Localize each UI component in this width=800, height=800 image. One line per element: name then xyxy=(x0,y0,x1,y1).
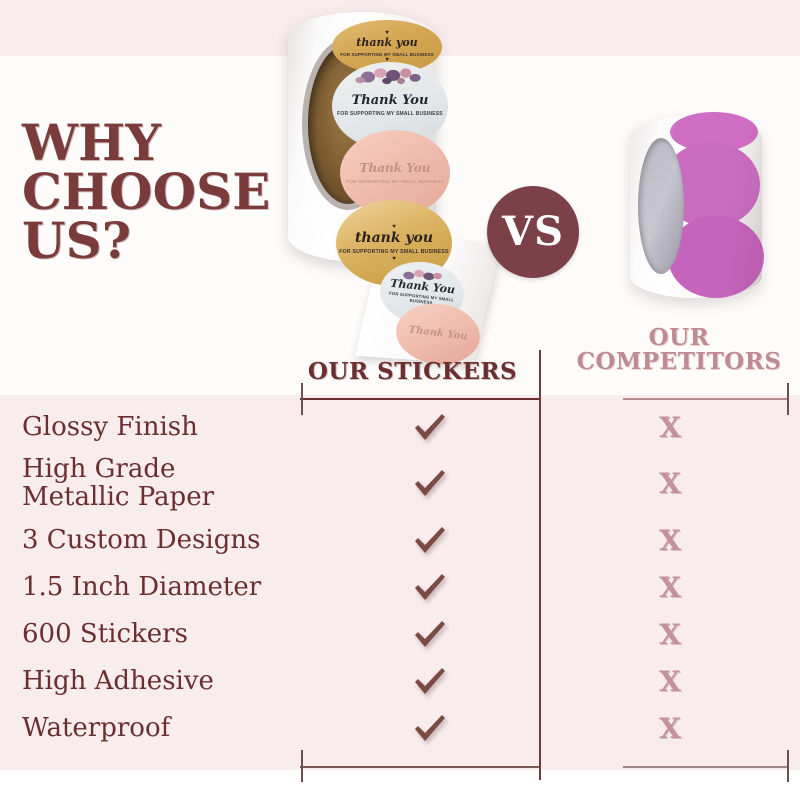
column-divider xyxy=(539,350,541,780)
table-cell: X xyxy=(635,404,705,451)
list-item: High Grade Metallic Paper xyxy=(22,451,302,517)
x-icon: X xyxy=(659,527,681,555)
competitor-roll-image xyxy=(622,112,800,312)
feature-list: Glossy Finish High Grade Metallic Paper … xyxy=(22,404,302,752)
table-cell xyxy=(395,517,465,564)
page-title: WHY CHOOSE US? xyxy=(22,118,292,265)
x-icon: X xyxy=(659,715,681,743)
header-rule-ours xyxy=(300,398,540,400)
list-item: 1.5 Inch Diameter xyxy=(22,564,302,611)
x-icon: X xyxy=(659,668,681,696)
table-cell xyxy=(395,705,465,752)
x-icon: X xyxy=(659,574,681,602)
x-icon: X xyxy=(659,470,681,498)
our-sticker-roll-image: ♥ thank you FOR SUPPORTING MY SMALL BUSI… xyxy=(276,4,526,356)
check-icon xyxy=(413,413,447,443)
competitor-roll-core xyxy=(638,138,684,274)
footer-rule-competitors xyxy=(623,766,788,768)
check-icon xyxy=(413,714,447,744)
table-cell: X xyxy=(635,451,705,517)
list-item: Waterproof xyxy=(22,705,302,752)
footer-rule-ours xyxy=(300,766,540,768)
vs-label: VS xyxy=(502,212,564,252)
frame-tick xyxy=(787,383,789,415)
vs-badge: VS xyxy=(487,186,579,278)
column-header-ours: OUR STICKERS xyxy=(300,360,525,384)
check-icon xyxy=(413,620,447,650)
list-item: 3 Custom Designs xyxy=(22,517,302,564)
table-cell: X xyxy=(635,517,705,564)
competitors-marks-column: X X X X X X X xyxy=(635,404,705,752)
table-cell xyxy=(395,564,465,611)
table-cell xyxy=(395,451,465,517)
header-rule-competitors xyxy=(623,398,788,400)
table-cell xyxy=(395,658,465,705)
check-icon xyxy=(413,573,447,603)
headline-line-3: US? xyxy=(22,216,292,265)
list-item: 600 Stickers xyxy=(22,611,302,658)
infographic-canvas: WHY CHOOSE US? ♥ thank you FOR SUPPORTIN… xyxy=(0,0,800,800)
table-cell: X xyxy=(635,658,705,705)
headline-line-1: WHY xyxy=(22,118,292,167)
table-cell xyxy=(395,404,465,451)
list-item: High Adhesive xyxy=(22,658,302,705)
table-cell: X xyxy=(635,611,705,658)
table-cell: X xyxy=(635,705,705,752)
table-cell: X xyxy=(635,564,705,611)
frame-tick xyxy=(787,750,789,782)
check-icon xyxy=(413,667,447,697)
frame-tick xyxy=(301,750,303,782)
headline-line-2: CHOOSE xyxy=(22,167,292,216)
check-icon xyxy=(413,469,447,499)
bottom-band xyxy=(0,770,800,800)
table-cell xyxy=(395,611,465,658)
check-icon xyxy=(413,526,447,556)
x-icon: X xyxy=(659,414,681,442)
heart-icon: ♥ xyxy=(392,224,396,231)
column-header-competitors: OUR COMPETITORS xyxy=(570,326,788,374)
list-item: Glossy Finish xyxy=(22,404,302,451)
x-icon: X xyxy=(659,621,681,649)
ours-marks-column xyxy=(395,404,465,752)
